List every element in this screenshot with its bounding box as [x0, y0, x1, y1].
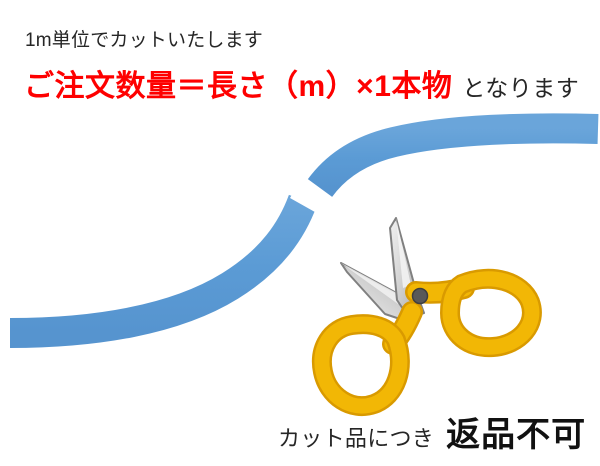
scissors	[322, 218, 532, 406]
cut-notice-graphic: 1m単位でカットいたします ご注文数量＝長さ（m）×1本物となります カット品に…	[0, 0, 600, 466]
order-formula-line: ご注文数量＝長さ（m）×1本物となります	[24, 72, 579, 102]
scissors-pivot-icon	[413, 289, 428, 304]
no-return-lead: カット品につき	[278, 426, 434, 451]
ribbon-left-segment	[10, 200, 303, 333]
scissors-handle-lower	[322, 312, 412, 406]
no-return-strong: 返品不可	[434, 416, 586, 454]
cut-unit-note: 1m単位でカットいたします	[25, 31, 263, 50]
ribbon-right-segment	[320, 128, 598, 188]
no-return-line: カット品につき返品不可	[278, 418, 586, 452]
scissors-handle-right	[416, 279, 532, 347]
order-formula-tail: となります	[452, 75, 579, 101]
order-formula-emphasis: ご注文数量＝長さ（m）×1本物	[24, 70, 452, 103]
